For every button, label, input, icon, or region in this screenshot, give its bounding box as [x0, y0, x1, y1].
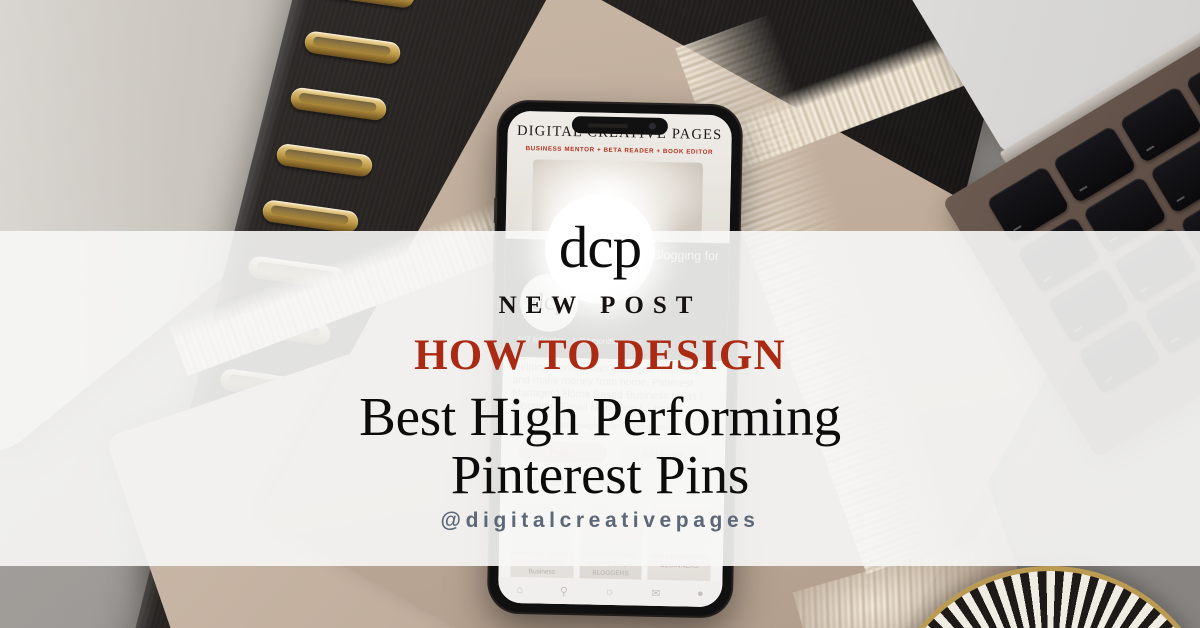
spiral-ring	[261, 199, 359, 234]
phone-speaker	[588, 123, 628, 128]
phone-notch	[572, 116, 668, 135]
phone-volume-up-button	[494, 197, 498, 223]
kicker-text: NEW POST	[0, 292, 1200, 320]
pinterest-pin-graphic: DIGITAL CREATIVE PAGES BUSINESS MENTOR +…	[0, 0, 1200, 628]
spiral-ring	[275, 143, 373, 178]
spiral-ring	[289, 86, 387, 121]
site-tagline: BUSINESS MENTOR + BETA READER + BOOK EDI…	[507, 145, 731, 157]
search-icon[interactable]: ⚲	[560, 584, 568, 597]
chat-icon[interactable]: ✉	[651, 586, 660, 599]
profile-icon[interactable]: ●	[697, 588, 704, 600]
phone-camera-icon	[649, 123, 656, 130]
bottom-nav-bar: ⌂ ⚲ ☼ ✉ ●	[498, 577, 722, 608]
headline: HOW TO DESIGN	[0, 331, 1200, 380]
spiral-ring	[303, 30, 401, 65]
dcp-logo-badge: dcp	[545, 194, 655, 304]
bell-icon[interactable]: ☼	[604, 586, 614, 598]
spiral-ring	[317, 0, 415, 9]
logo-mark: dcp	[559, 218, 641, 277]
social-handle: @digitalcreativepages	[0, 509, 1200, 533]
subtitle-line-2: Pinterest Pins	[0, 443, 1200, 506]
subtitle-line-1: Best High Performing	[0, 385, 1200, 448]
home-icon[interactable]: ⌂	[516, 584, 523, 596]
